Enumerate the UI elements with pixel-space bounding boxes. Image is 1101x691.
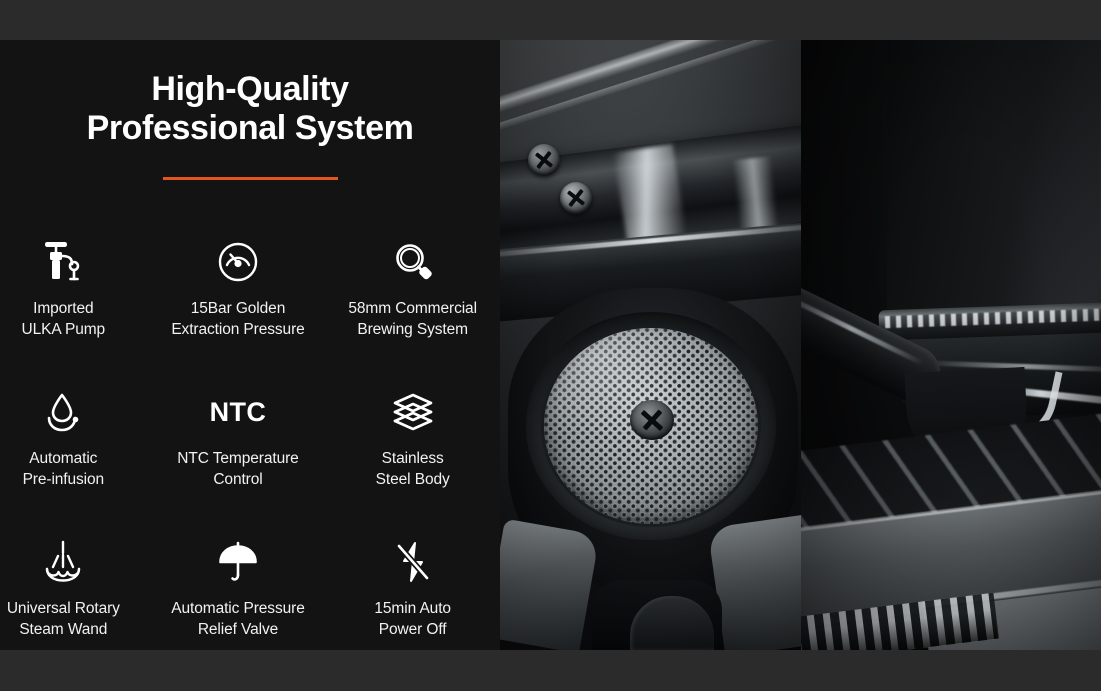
feature-item-stainless-steel-body: Stainless Steel Body	[325, 386, 500, 536]
lightning-off-icon	[393, 538, 433, 586]
steam-wand-icon	[41, 538, 85, 586]
product-feature-banner: High-Quality Professional System	[0, 0, 1101, 691]
feature-label: 15min Auto Power Off	[374, 599, 451, 641]
feature-item-ntc-temperature: NTC NTC Temperature Control	[151, 386, 326, 536]
headline-line-2: Professional System	[0, 109, 500, 148]
feature-item-relief-valve: Automatic Pressure Relief Valve	[151, 536, 326, 650]
brew-group-shower-screen-photo	[500, 40, 801, 650]
ntc-icon-label: NTC	[210, 388, 267, 436]
stacked-layers-icon	[391, 388, 435, 436]
feature-panel: High-Quality Professional System	[0, 40, 500, 650]
feature-label: Universal Rotary Steam Wand	[7, 599, 120, 641]
ntc-text-icon: NTC	[210, 388, 267, 436]
feature-label: 15Bar Golden Extraction Pressure	[171, 299, 304, 341]
page-title: High-Quality Professional System	[0, 40, 500, 148]
magnifier-icon	[392, 238, 434, 286]
feature-item-extraction-pressure: 15Bar Golden Extraction Pressure	[151, 236, 326, 386]
water-droplet-icon	[42, 388, 84, 436]
feature-item-brewing-system: 58mm Commercial Brewing System	[325, 236, 500, 386]
banner-content: High-Quality Professional System	[0, 40, 1101, 650]
pressure-gauge-icon	[217, 238, 259, 286]
feature-item-imported-ulka-pump: Imported ULKA Pump	[0, 236, 151, 386]
feature-label: Imported ULKA Pump	[22, 299, 106, 341]
pump-icon	[41, 238, 85, 286]
feature-label: Automatic Pressure Relief Valve	[171, 599, 304, 641]
umbrella-icon	[217, 538, 259, 586]
headline-line-1: High-Quality	[0, 70, 500, 109]
top-chrome-band	[0, 0, 1101, 40]
feature-item-pre-infusion: Automatic Pre-infusion	[0, 386, 151, 536]
feature-label: Stainless Steel Body	[376, 449, 450, 491]
feature-label: 58mm Commercial Brewing System	[348, 299, 477, 341]
bottom-chrome-band	[0, 650, 1101, 691]
feature-label: Automatic Pre-infusion	[23, 449, 105, 491]
headline-accent-rule	[163, 177, 338, 180]
feature-item-auto-power-off: 15min Auto Power Off	[325, 536, 500, 650]
portafilter-drip-tray-photo	[801, 40, 1101, 650]
feature-grid: Imported ULKA Pump 15Bar Golden Extracti…	[0, 236, 500, 650]
feature-item-steam-wand: Universal Rotary Steam Wand	[0, 536, 151, 650]
feature-label: NTC Temperature Control	[177, 449, 298, 491]
